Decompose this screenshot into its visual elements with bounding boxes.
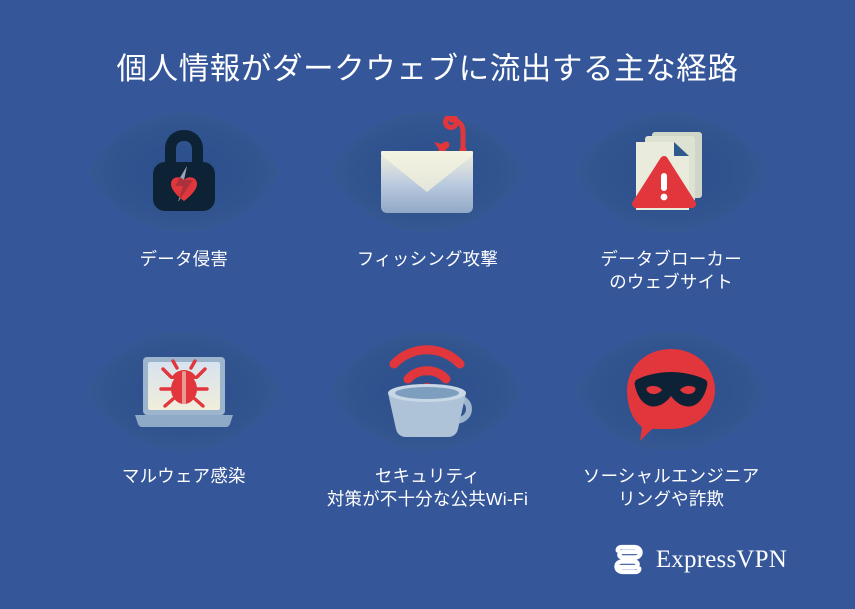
- grid-item-label: ソーシャルエンジニア リングや詐欺: [583, 465, 760, 511]
- grid-item-label: フィッシング攻撃: [357, 248, 498, 271]
- grid-item-social-engineering[interactable]: ソーシャルエンジニア リングや詐欺: [549, 329, 793, 548]
- grid-item-malware[interactable]: マルウェア感染: [62, 329, 306, 548]
- grid-item-label: セキュリティ 対策が不十分な公共Wi-Fi: [327, 465, 528, 511]
- grid-item-label: データブローカー のウェブサイト: [600, 248, 742, 294]
- coffee-cup-wifi-icon: [368, 335, 486, 447]
- brand-name: ExpressVPN: [656, 547, 787, 572]
- documents-warning-icon: [612, 116, 730, 228]
- lens-backdrop-3: [573, 110, 769, 234]
- grid-item-label: データ侵害: [140, 248, 228, 271]
- expressvpn-brand[interactable]: ExpressVPN: [612, 543, 787, 576]
- broken-padlock-icon: [125, 116, 243, 228]
- infographic-canvas: 個人情報がダークウェブに流出する主な経路: [0, 0, 855, 609]
- expressvpn-logo-icon: [612, 543, 645, 576]
- grid-item-data-brokers[interactable]: データブローカー のウェブサイト: [549, 110, 793, 329]
- pathways-grid: データ侵害: [62, 110, 793, 548]
- page-title: 個人情報がダークウェブに流出する主な経路: [0, 51, 855, 88]
- lens-backdrop-1: [86, 110, 282, 234]
- grid-item-label: マルウェア感染: [122, 465, 246, 488]
- grid-item-data-breach[interactable]: データ侵害: [62, 110, 306, 329]
- grid-item-phishing[interactable]: フィッシング攻撃: [306, 110, 550, 329]
- lens-backdrop-2: [329, 110, 525, 234]
- grid-item-public-wifi[interactable]: セキュリティ 対策が不十分な公共Wi-Fi: [306, 329, 550, 548]
- speech-bubble-mask-icon: [612, 335, 730, 447]
- laptop-bug-icon: [125, 335, 243, 447]
- lens-backdrop-6: [573, 329, 769, 453]
- lens-backdrop-4: [86, 329, 282, 453]
- lens-backdrop-5: [329, 329, 525, 453]
- envelope-fishhook-icon: [368, 116, 486, 228]
